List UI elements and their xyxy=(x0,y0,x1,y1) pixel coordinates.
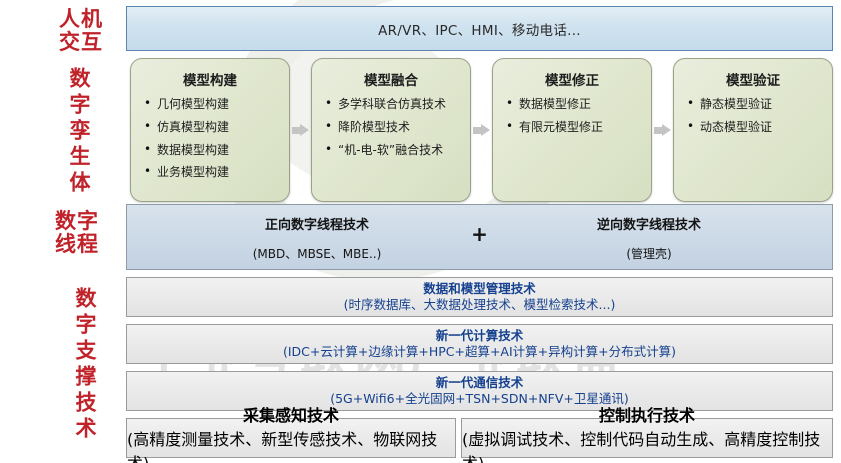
model-box-list: 数据模型修正 有限元模型修正 xyxy=(499,98,645,135)
support-row-title: 控制执行技术 xyxy=(599,402,695,426)
support-row-title: 数据和模型管理技术 xyxy=(423,281,536,297)
list-item: 静态模型验证 xyxy=(680,98,826,112)
thread-reverse: 逆向数字线程技术 (管理壳) xyxy=(499,205,799,262)
rail-label-digital-twin: 数字孪生体 xyxy=(60,62,90,202)
list-item: 几何模型构建 xyxy=(137,98,283,112)
left-rail: 人机交互 数字孪生体 数字线程 数字支撑技术 xyxy=(0,0,120,463)
list-item: 仿真模型构建 xyxy=(137,121,283,135)
rail-label-hmi: 人机交互 xyxy=(44,8,118,53)
right-arrow-icon xyxy=(654,124,671,137)
digital-twin-row: 模型构建 几何模型构建 仿真模型构建 数据模型构建 业务模型构建 模型融合 多学… xyxy=(130,58,833,202)
model-box-list: 多学科联合仿真技术 降阶模型技术 “机-电-软”融合技术 xyxy=(318,98,464,157)
list-item: 多学科联合仿真技术 xyxy=(318,98,464,112)
support-row-sub: (时序数据库、大数据处理技术、模型检索技术...) xyxy=(344,297,616,313)
support-row-control: 控制执行技术 (虚拟调试技术、控制代码自动生成、高精度控制技术) xyxy=(461,418,833,458)
model-box-fusion: 模型融合 多学科联合仿真技术 降阶模型技术 “机-电-软”融合技术 xyxy=(311,58,471,202)
support-row-sub: (虚拟调试技术、控制代码自动生成、高精度控制技术) xyxy=(462,426,832,463)
rail-label-digital-support: 数字支撑技术 xyxy=(66,280,96,450)
diagram-canvas: 工业互联网产业联盟 Alliance of Industrial Interne… xyxy=(0,0,841,463)
list-item: 业务模型构建 xyxy=(137,166,283,180)
support-row-title: 采集感知技术 xyxy=(243,402,339,426)
list-item: 动态模型验证 xyxy=(680,121,826,135)
support-row-data-model-management: 数据和模型管理技术 (时序数据库、大数据处理技术、模型检索技术...) xyxy=(126,277,833,317)
digital-thread-box: 正向数字线程技术 (MBD、MBSE、MBE..) + 逆向数字线程技术 (管理… xyxy=(126,204,833,270)
arrow-gap-1 xyxy=(290,58,311,202)
right-arrow-icon xyxy=(292,124,309,137)
list-item: 有限元模型修正 xyxy=(499,121,645,135)
thread-reverse-sub: (管理壳) xyxy=(499,245,799,262)
support-row-sub: (5G+Wifi6+全光固网+TSN+SDN+NFV+卫星通讯) xyxy=(330,391,629,407)
model-box-title: 模型融合 xyxy=(318,69,464,89)
list-item: 数据模型修正 xyxy=(499,98,645,112)
model-box-title: 模型构建 xyxy=(137,69,283,89)
support-row-sensing: 采集感知技术 (高精度测量技术、新型传感技术、物联网技术) xyxy=(126,418,456,458)
model-box-list: 几何模型构建 仿真模型构建 数据模型构建 业务模型构建 xyxy=(137,98,283,180)
hmi-layer-label: AR/VR、IPC、HMI、移动电话... xyxy=(378,19,581,39)
arrow-gap-2 xyxy=(471,58,492,202)
model-box-validation: 模型验证 静态模型验证 动态模型验证 xyxy=(673,58,833,202)
model-box-title: 模型修正 xyxy=(499,69,645,89)
support-row-communication: 新一代通信技术 (5G+Wifi6+全光固网+TSN+SDN+NFV+卫星通讯) xyxy=(126,371,833,411)
support-row-title: 新一代计算技术 xyxy=(436,328,524,344)
model-box-correction: 模型修正 数据模型修正 有限元模型修正 xyxy=(492,58,652,202)
support-row-sub: (高精度测量技术、新型传感技术、物联网技术) xyxy=(127,426,455,463)
hmi-layer-box: AR/VR、IPC、HMI、移动电话... xyxy=(126,6,833,51)
support-row-computing: 新一代计算技术 (IDC+云计算+边缘计算+HPC+超算+AI计算+异构计算+分… xyxy=(126,324,833,364)
list-item: “机-电-软”融合技术 xyxy=(318,144,464,158)
right-arrow-icon xyxy=(473,124,490,137)
support-row-title: 新一代通信技术 xyxy=(436,375,524,391)
list-item: 数据模型构建 xyxy=(137,144,283,158)
model-box-list: 静态模型验证 动态模型验证 xyxy=(680,98,826,135)
list-item: 降阶模型技术 xyxy=(318,121,464,135)
model-box-construction: 模型构建 几何模型构建 仿真模型构建 数据模型构建 业务模型构建 xyxy=(130,58,290,202)
model-box-title: 模型验证 xyxy=(680,69,826,89)
arrow-gap-3 xyxy=(652,58,673,202)
support-row-sub: (IDC+云计算+边缘计算+HPC+超算+AI计算+异构计算+分布式计算) xyxy=(283,344,676,360)
rail-label-digital-thread: 数字线程 xyxy=(40,210,114,255)
thread-forward-sub: (MBD、MBSE、MBE..) xyxy=(167,245,467,262)
thread-reverse-title: 逆向数字线程技术 xyxy=(499,214,799,233)
